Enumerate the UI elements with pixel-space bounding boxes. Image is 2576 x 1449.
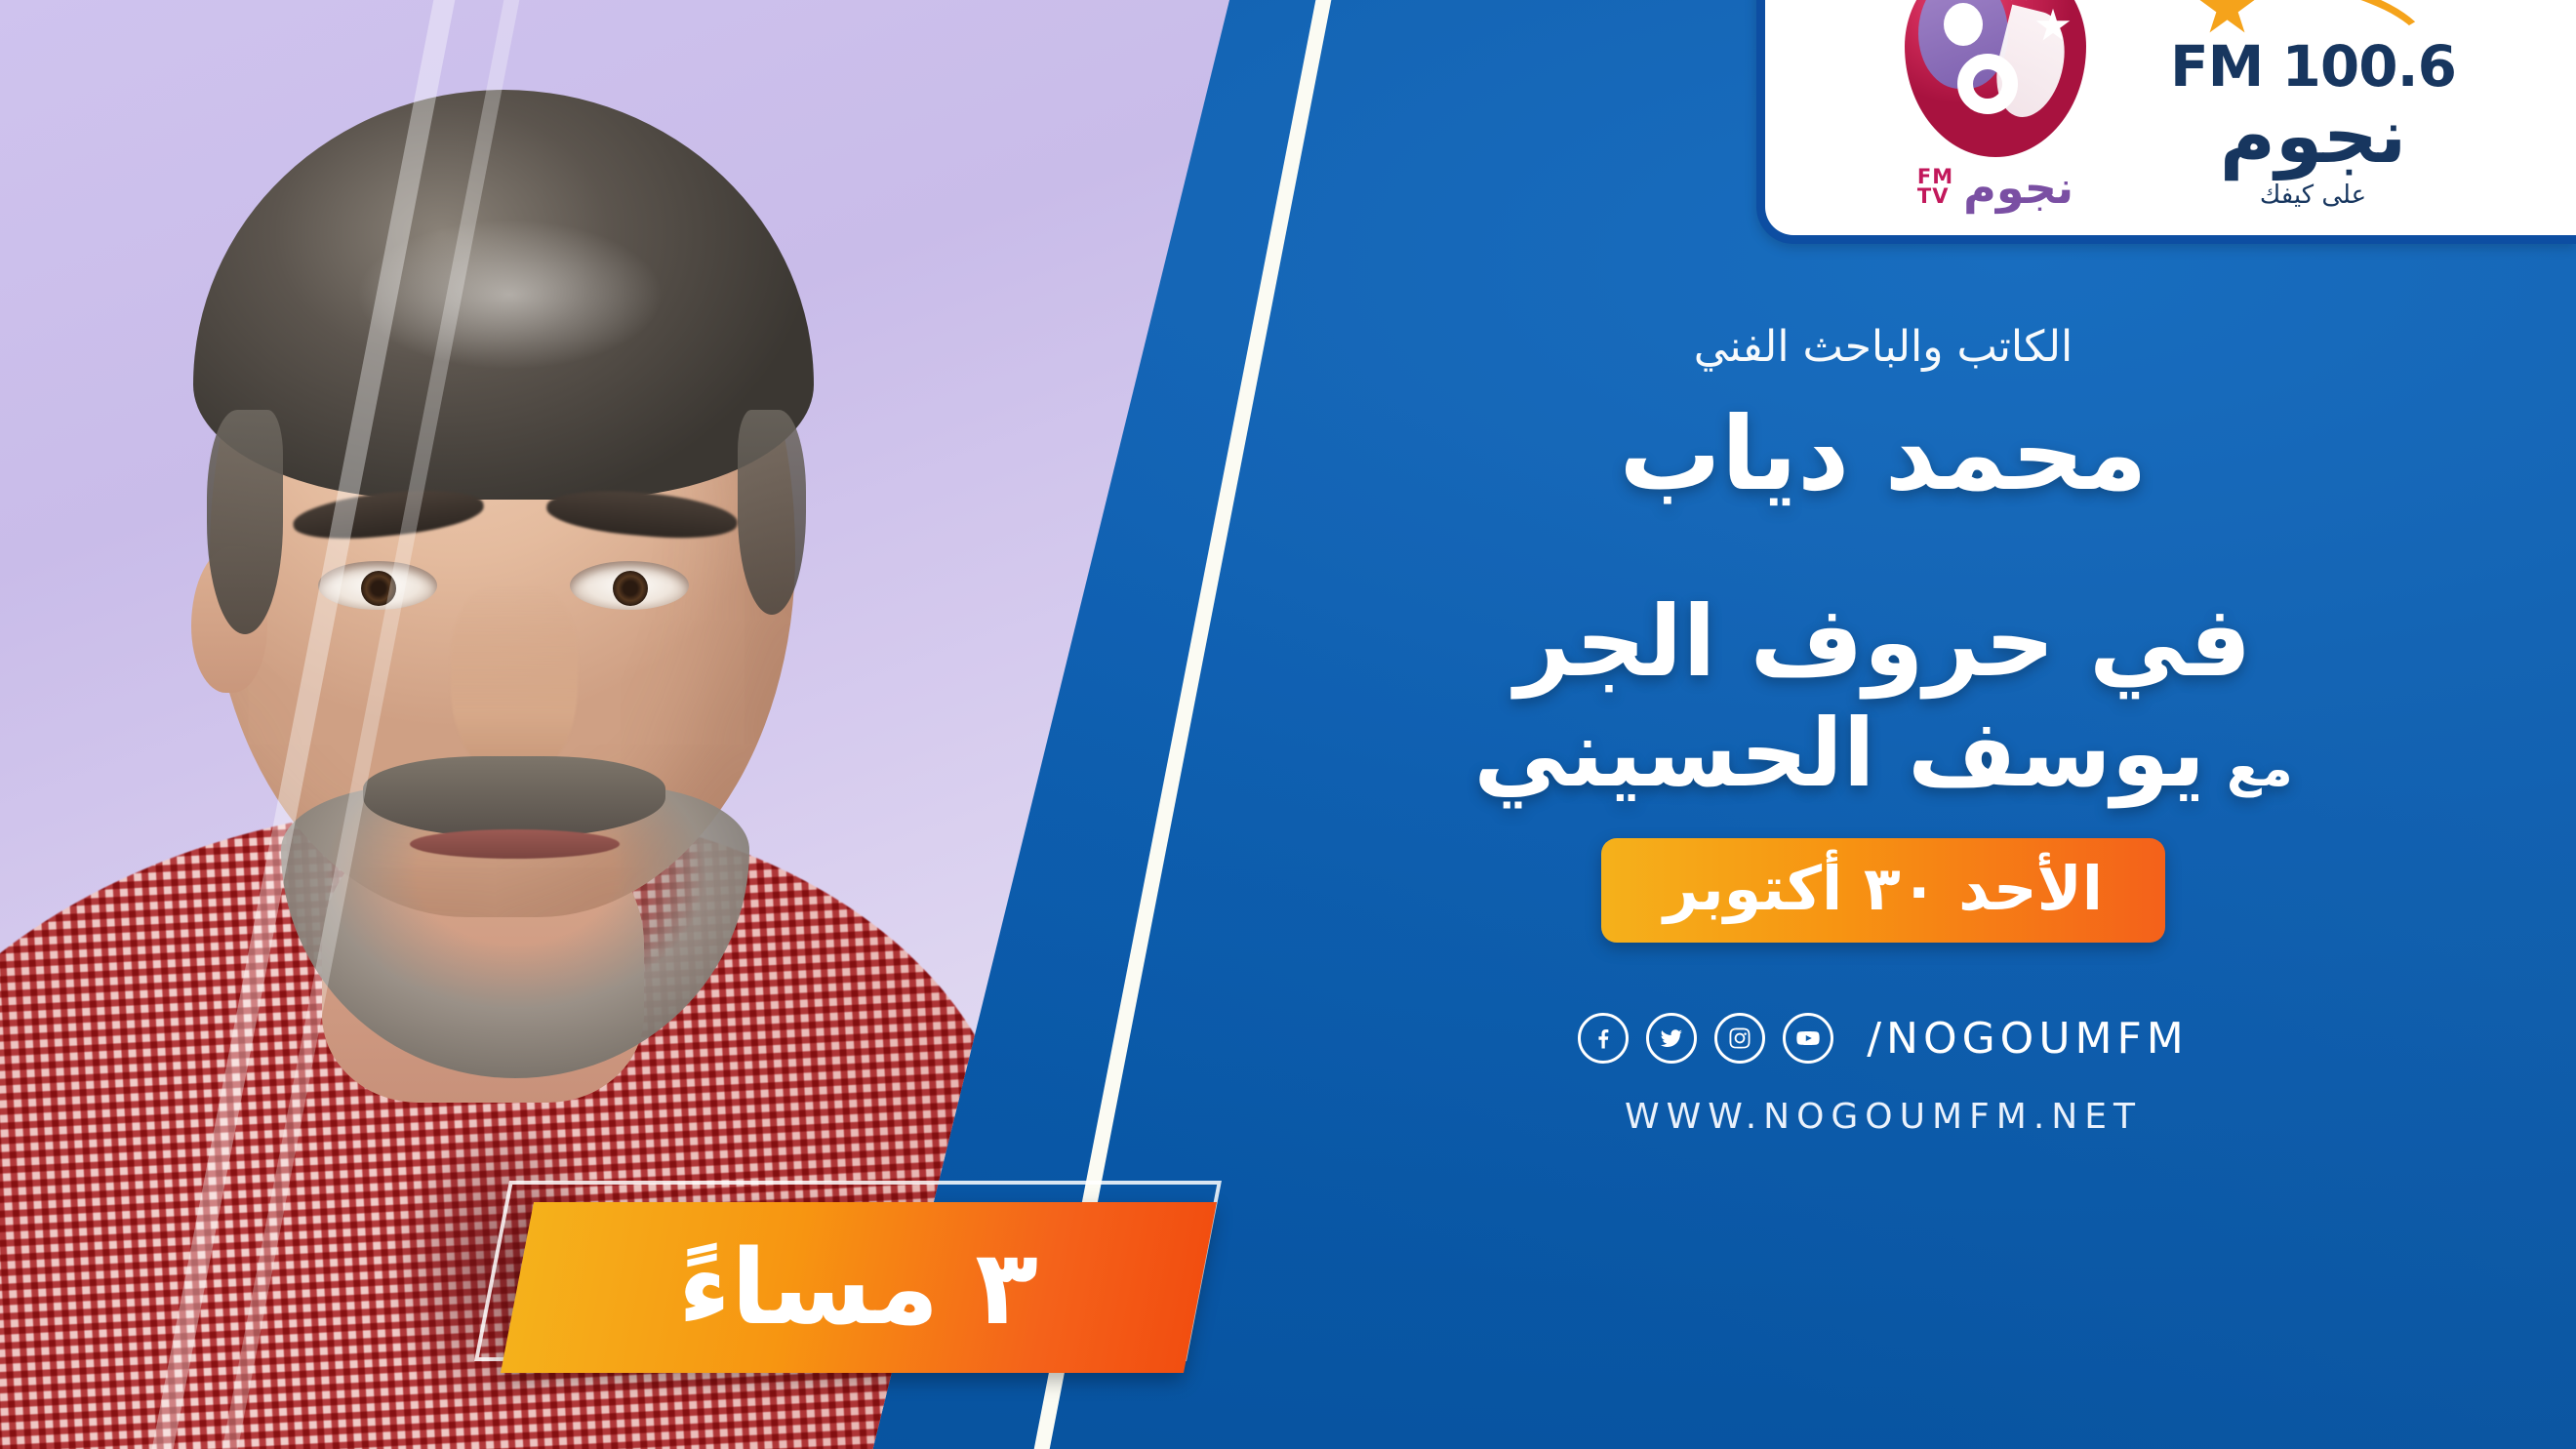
time-badge: ٣ مساءً xyxy=(501,1202,1217,1373)
date-badge: الأحد ٣٠ أكتوبر xyxy=(1601,838,2165,943)
tv-logo-ring xyxy=(1957,54,2018,114)
radio-tagline: على كيفك xyxy=(2260,181,2366,210)
tv-logo-wordmark: نجوم FM TV xyxy=(1917,167,2073,210)
tv-suffix: FM TV xyxy=(1917,167,1953,210)
mouth xyxy=(410,829,620,859)
time-badge-text: ٣ مساءً xyxy=(678,1236,1038,1340)
youtube-icon[interactable] xyxy=(1783,1013,1833,1064)
copy-block: الكاتب والباحث الفني محمد دياب في حروف ا… xyxy=(1308,322,2459,1137)
guest-name: محمد دياب xyxy=(1308,401,2459,507)
sideburn-left xyxy=(207,410,283,634)
twitter-icon[interactable] xyxy=(1646,1013,1697,1064)
website-url[interactable]: WWW.NOGOUMFM.NET xyxy=(1308,1097,2459,1137)
tv-suffix-tv: TV xyxy=(1917,184,1950,208)
social-row: /NOGOUMFM xyxy=(1308,1013,2459,1064)
facebook-icon[interactable] xyxy=(1578,1013,1629,1064)
moustache xyxy=(363,756,665,838)
logo-panel: 100.6 FM نجوم على كيفك نجوم FM TV xyxy=(1756,0,2576,244)
nogoum-fm-tv-logo: نجوم FM TV xyxy=(1905,0,2086,210)
radio-name-arabic: نجوم xyxy=(2220,99,2407,175)
guest-kicker: الكاتب والباحث الفني xyxy=(1308,322,2459,372)
nogoum-fm-radio-logo: 100.6 FM نجوم على كيفك xyxy=(2170,0,2456,210)
tv-name-arabic: نجوم xyxy=(1963,167,2073,210)
social-handle[interactable]: /NOGOUMFM xyxy=(1867,1014,2189,1064)
tv-logo-mark-icon xyxy=(1905,0,2086,157)
iris-right xyxy=(613,571,648,606)
time-badge-wrap: ٣ مساءً xyxy=(517,1202,1200,1373)
instagram-icon[interactable] xyxy=(1714,1013,1765,1064)
host-preposition: مع xyxy=(2227,740,2293,798)
hair xyxy=(193,90,814,500)
eye-right xyxy=(570,561,689,610)
host-name: يوسف الحسيني xyxy=(1473,704,2205,803)
promo-poster: 100.6 FM نجوم على كيفك نجوم FM TV الكا xyxy=(0,0,2576,1449)
star-swoosh-icon xyxy=(2192,0,2435,36)
tv-logo-star-small-icon xyxy=(2006,0,2032,3)
show-title: في حروف الجر xyxy=(1308,587,2459,697)
nose xyxy=(451,585,578,781)
host-line: مع يوسف الحسيني xyxy=(1308,704,2459,803)
sideburn-right xyxy=(738,410,806,615)
